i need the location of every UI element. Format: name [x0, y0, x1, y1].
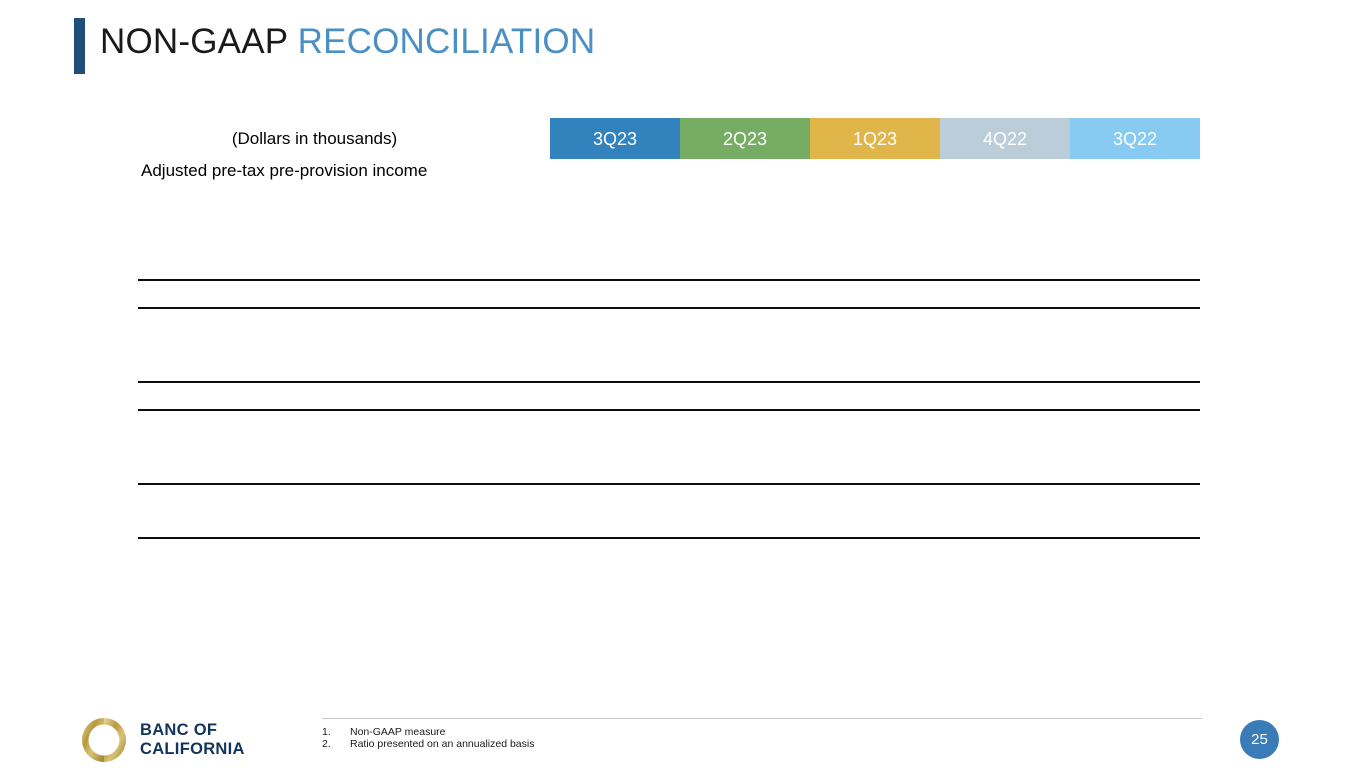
- column-header-2q23: 2Q23: [680, 118, 810, 159]
- table-row: [138, 587, 1200, 611]
- footnote-number: 2.: [322, 738, 350, 750]
- table-row: [138, 231, 1200, 255]
- page-title-part1: NON-GAAP: [100, 22, 298, 61]
- section1-heading: Adjusted pre-tax pre-provision income: [138, 159, 550, 183]
- footnote-text: Ratio presented on an annualized basis: [350, 738, 534, 750]
- footnote-number: 1.: [322, 726, 350, 738]
- page-title: NON-GAAP RECONCILIATION: [100, 22, 595, 62]
- header-cells: 3Q23 2Q23 1Q23 4Q22 3Q22: [550, 118, 1200, 159]
- row-spacer: [138, 539, 1200, 563]
- table-row: [138, 207, 1200, 231]
- title-accent-bar: [74, 18, 85, 74]
- footnotes: 1. Non-GAAP measure 2. Ratio presented o…: [322, 726, 534, 750]
- column-header-3q23: 3Q23: [550, 118, 680, 159]
- column-header-4q22: 4Q22: [940, 118, 1070, 159]
- page-title-part2: RECONCILIATION: [298, 22, 596, 61]
- table-row: [138, 183, 1200, 207]
- footnote-item: 1. Non-GAAP measure: [322, 726, 534, 738]
- table-row-highlight: [138, 279, 1200, 309]
- column-header-1q23: 1Q23: [810, 118, 940, 159]
- empty-cells: [550, 159, 1200, 183]
- logo-line-1: BANC OF: [140, 721, 245, 740]
- table-row: [138, 435, 1200, 459]
- table-header-row: (Dollars in thousands) 3Q23 2Q23 1Q23 4Q…: [138, 118, 1200, 159]
- column-header-3q22: 3Q22: [1070, 118, 1200, 159]
- logo-line-2: CALIFORNIA: [140, 740, 245, 759]
- table-row: [138, 333, 1200, 357]
- table-row: [138, 611, 1200, 635]
- footnote-text: Non-GAAP measure: [350, 726, 446, 738]
- table-row: [138, 659, 1200, 683]
- table-row: [138, 459, 1200, 483]
- page-number-badge: 25: [1240, 720, 1279, 759]
- footer-divider: [322, 718, 1202, 719]
- table-row-highlight: [138, 483, 1200, 511]
- table-row: [138, 255, 1200, 279]
- table-row: [138, 635, 1200, 659]
- table-row: [138, 563, 1200, 587]
- unit-label: (Dollars in thousands): [138, 118, 550, 159]
- table-row-highlight: [138, 511, 1200, 539]
- table-row-highlight: [138, 381, 1200, 411]
- company-logo: BANC OF CALIFORNIA: [78, 714, 245, 766]
- banc-of-california-ring-icon: [78, 714, 130, 766]
- non-gaap-reconciliation-table: (Dollars in thousands) 3Q23 2Q23 1Q23 4Q…: [138, 118, 1200, 683]
- section-heading-row: Adjusted pre-tax pre-provision income: [138, 159, 1200, 183]
- row-spacer: [138, 411, 1200, 435]
- footnote-item: 2. Ratio presented on an annualized basi…: [322, 738, 534, 750]
- logo-wordmark: BANC OF CALIFORNIA: [140, 721, 245, 759]
- table-row: [138, 357, 1200, 381]
- row-spacer: [138, 309, 1200, 333]
